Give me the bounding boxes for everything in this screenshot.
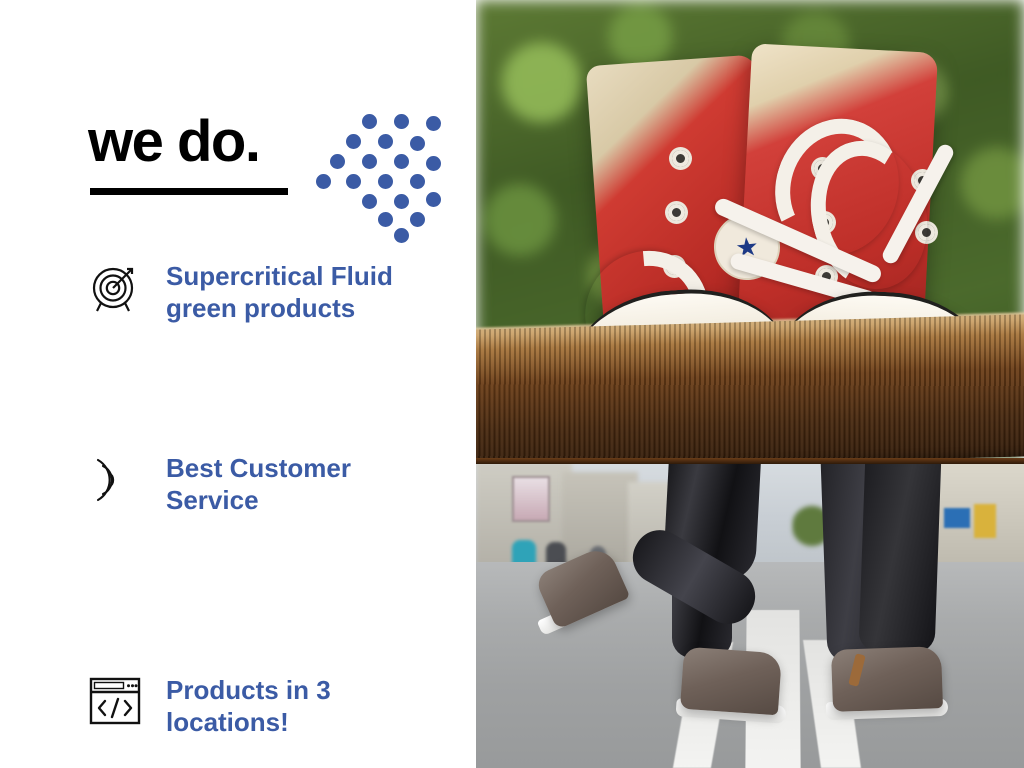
grey-sneaker-standing: [680, 647, 782, 716]
feature-item-products-in-3-locations: Products in 3 locations!: [86, 672, 458, 738]
eyelet: [668, 204, 685, 221]
browser-code-icon: [86, 672, 144, 730]
brand-block: we do.: [88, 110, 458, 230]
feature-item-supercritical-fluid: Supercritical Fluid green products: [86, 258, 458, 324]
feature-label: Supercritical Fluid green products: [166, 258, 393, 324]
wood-plank: [476, 314, 1024, 458]
feature-label-line1: Supercritical Fluid: [166, 260, 393, 292]
feature-label-line2: green products: [166, 292, 393, 324]
leg-male: [859, 458, 942, 653]
street-poster: [512, 476, 550, 522]
grey-sneaker-male: [831, 646, 943, 712]
feature-label-line2: locations!: [166, 706, 331, 738]
street-crosswalk-photo: [476, 458, 1024, 768]
photo-panel: ★: [476, 0, 1024, 768]
page-title: we do.: [88, 110, 259, 174]
feature-item-best-customer-service: Best Customer Service: [86, 450, 458, 516]
feature-label: Products in 3 locations!: [166, 672, 331, 738]
photo-top-edge: [476, 458, 1024, 464]
feature-label-line2: Service: [166, 484, 351, 516]
left-content-panel: we do.: [0, 0, 476, 768]
title-underline: [90, 188, 288, 195]
dot-triangle-logo: [316, 112, 448, 240]
street-sign-yellow: [974, 504, 996, 538]
street-sign-blue: [944, 508, 970, 528]
target-bullseye-icon: [86, 258, 144, 316]
feature-label-line1: Best Customer: [166, 452, 351, 484]
eyelet: [672, 150, 689, 167]
signal-waves-icon: [86, 450, 144, 508]
feature-label-line1: Products in 3: [166, 674, 331, 706]
slide-canvas: we do.: [0, 0, 1024, 768]
feature-label: Best Customer Service: [166, 450, 351, 516]
red-sneakers-photo: ★: [476, 0, 1024, 458]
